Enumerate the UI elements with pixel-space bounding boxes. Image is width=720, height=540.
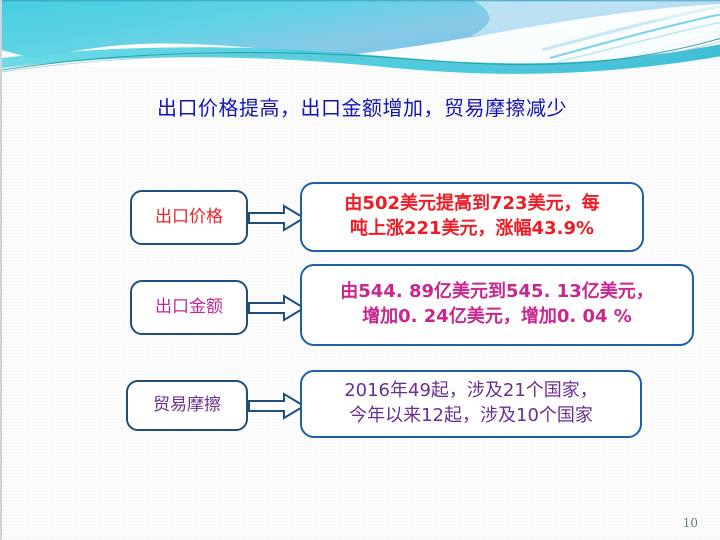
flow-row: 出口金额 由544. 89亿美元到545. 13亿美元， 增加0. 24亿美元，… — [2, 268, 720, 342]
flow-content-line: 由544. 89亿美元到545. 13亿美元， — [340, 280, 653, 305]
flow-label-text: 出口价格 — [155, 209, 223, 226]
flow-label-text: 贸易摩擦 — [153, 397, 221, 414]
flow-label-box[interactable]: 出口价格 — [130, 190, 248, 245]
flow-row: 贸易摩擦 2016年49起，涉及21个国家， 今年以来12起，涉及10个国家 — [2, 368, 720, 442]
right-block-arrow-icon — [248, 392, 306, 420]
flow-content-box[interactable]: 由544. 89亿美元到545. 13亿美元， 增加0. 24亿美元，增加0. … — [300, 264, 694, 346]
flow-content-line: 今年以来12起，涉及10个国家 — [349, 404, 593, 429]
right-block-arrow-icon — [248, 204, 306, 232]
flow-content-box[interactable]: 2016年49起，涉及21个国家， 今年以来12起，涉及10个国家 — [300, 370, 642, 438]
page-number: 10 — [683, 516, 698, 530]
flow-row: 出口价格 由502美元提高到723美元，每 吨上涨221美元，涨幅43.9% — [2, 178, 720, 252]
slide-canvas: 出口价格提高，出口金额增加，贸易摩擦减少 出口价格 由502美元提高到723美元… — [0, 0, 720, 540]
flow-content-box[interactable]: 由502美元提高到723美元，每 吨上涨221美元，涨幅43.9% — [300, 182, 644, 252]
page-title: 出口价格提高，出口金额增加，贸易摩擦减少 — [2, 92, 720, 121]
flow-label-box[interactable]: 贸易摩擦 — [126, 380, 248, 431]
flow-content-line: 2016年49起，涉及21个国家， — [344, 379, 598, 404]
flow-content-line: 增加0. 24亿美元，增加0. 04 % — [362, 305, 632, 330]
flow-content-line: 由502美元提高到723美元，每 — [344, 192, 599, 217]
right-block-arrow-icon — [248, 294, 306, 322]
flow-content-line: 吨上涨221美元，涨幅43.9% — [350, 217, 594, 242]
flow-label-box[interactable]: 出口金额 — [130, 280, 248, 335]
flow-label-text: 出口金额 — [155, 299, 223, 316]
header-banner-decoration — [2, 0, 720, 80]
